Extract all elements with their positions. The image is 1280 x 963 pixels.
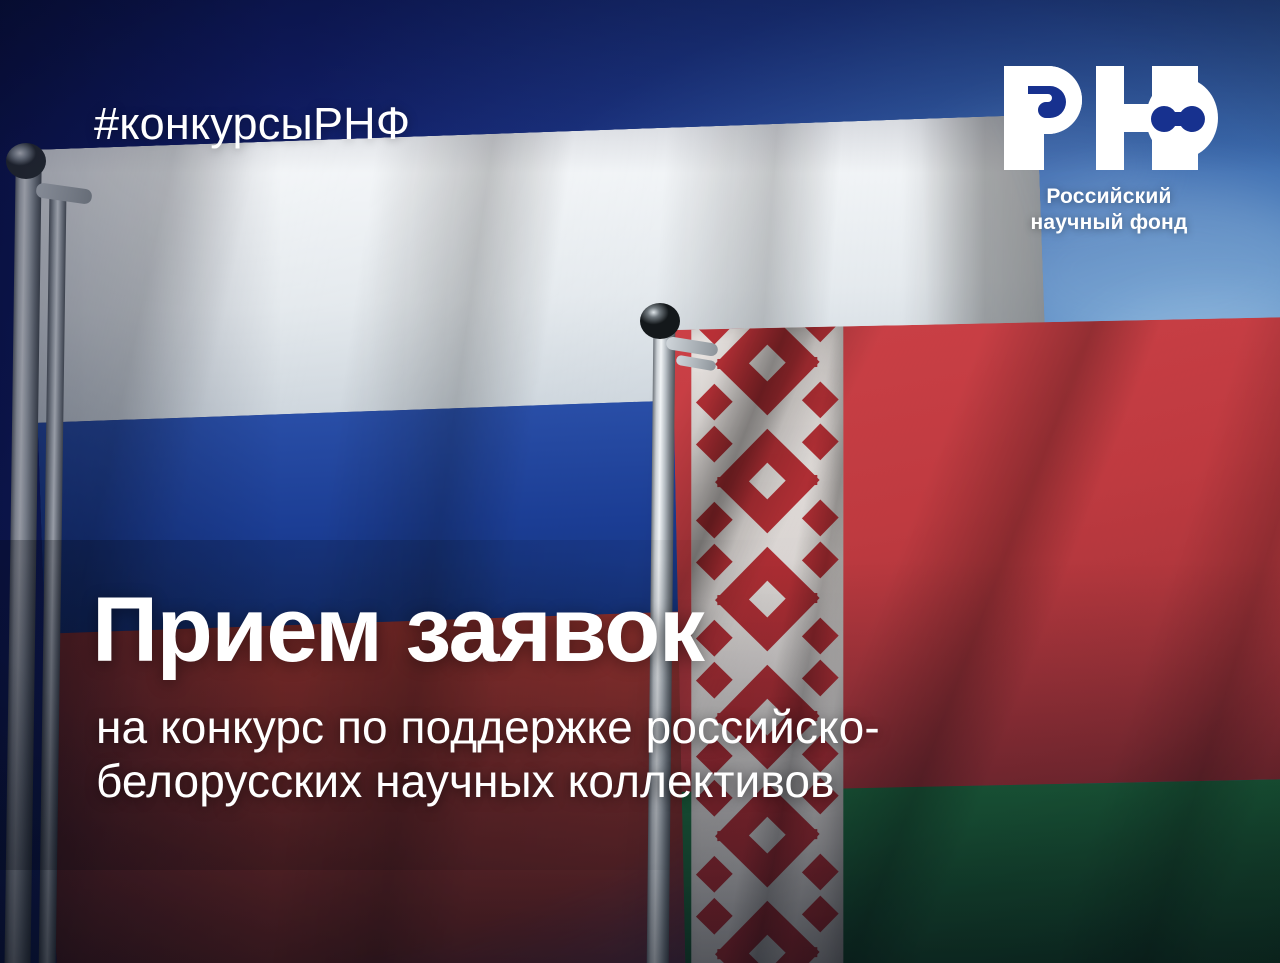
belarus-flag: [672, 315, 1280, 963]
belarus-flag-folds: [672, 315, 1280, 963]
hashtag-label: #конкурсыРНФ: [94, 98, 410, 150]
page-subtitle: на конкурс по поддержке российско- белор…: [96, 700, 1196, 809]
rnf-logo-name: Российский научный фонд: [994, 184, 1224, 235]
page-subtitle-line-1: на конкурс по поддержке российско-: [96, 700, 1196, 754]
rnf-logo-mark-icon: [1000, 66, 1218, 170]
rnf-logo-name-line-1: Российский: [994, 184, 1224, 210]
flagpole-finial-icon: [6, 143, 46, 179]
rnf-logo: Российский научный фонд: [994, 66, 1224, 235]
page-title: Прием заявок: [92, 584, 703, 676]
page-subtitle-line-2: белорусских научных коллективов: [96, 754, 1196, 808]
flagpole-finial-icon: [640, 303, 680, 339]
poster-canvas: #конкурсыРНФ Прием заявок на конкурс по …: [0, 0, 1280, 963]
rnf-logo-name-line-2: научный фонд: [994, 210, 1224, 236]
